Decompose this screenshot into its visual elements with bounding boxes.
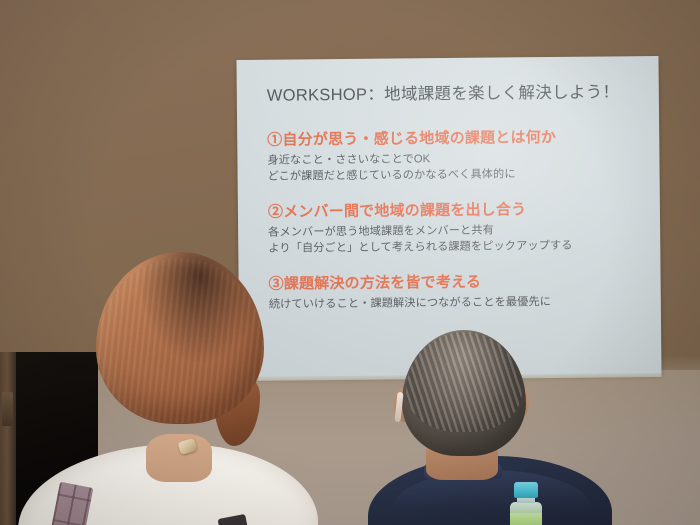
- slide-title: WORKSHOP：地域課題を楽しく解決しよう！: [267, 78, 637, 106]
- photo-scene: WORKSHOP：地域課題を楽しく解決しよう！ ①自分が思う・感じる地域の課題と…: [0, 0, 700, 525]
- person-man: [382, 330, 612, 525]
- slide-block-2-heading: ②メンバー間で地域の課題を出し合う: [268, 197, 638, 222]
- water-bottle: [508, 482, 544, 525]
- person-woman: [18, 248, 328, 525]
- bottle-label: [510, 513, 542, 525]
- bottle-cap: [514, 482, 538, 498]
- door-frame: [0, 352, 16, 525]
- slide-block-1-line-2: どこが課題だと感じているのかなるべく具体的に: [268, 166, 638, 185]
- door-frame-detail: [2, 392, 13, 426]
- slide-block-1: ①自分が思う・感じる地域の課題とは何か 身近なこと・ささいなことでOK どこが課…: [267, 125, 638, 185]
- slide-block-1-heading: ①自分が思う・感じる地域の課題とは何か: [267, 125, 637, 150]
